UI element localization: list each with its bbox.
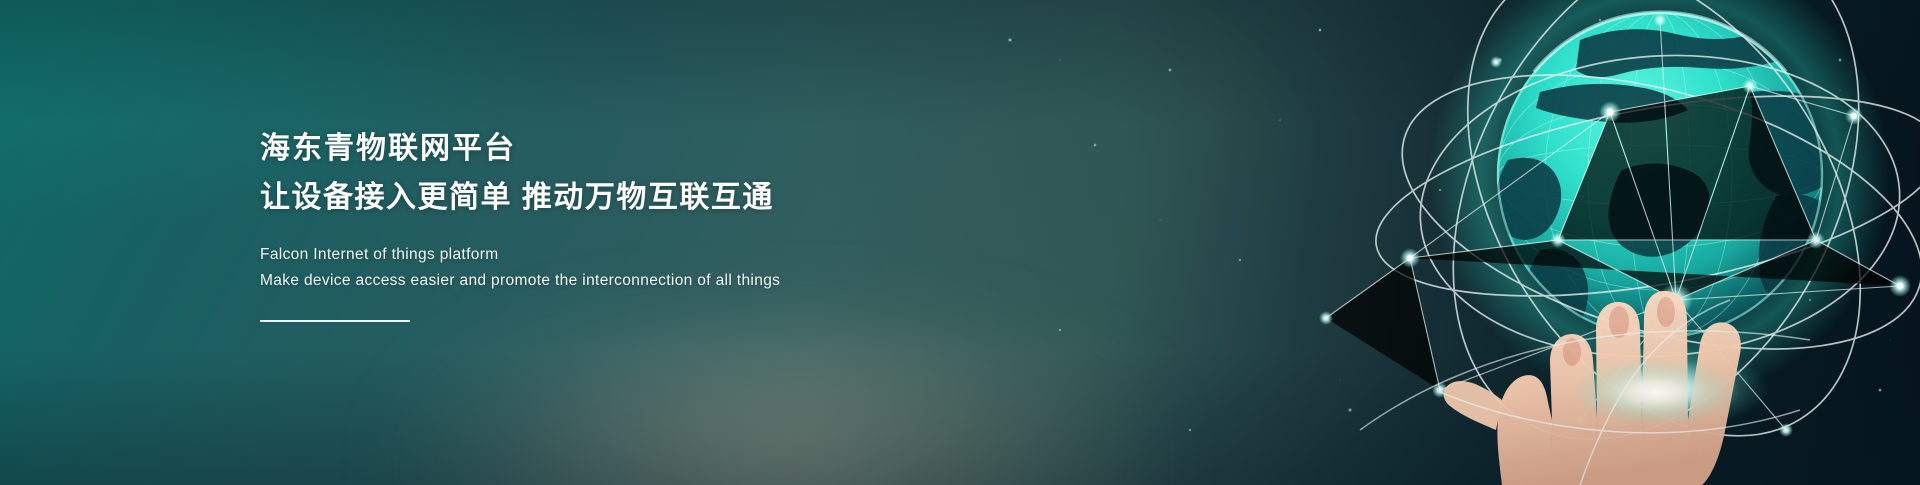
english-tagline-line-2: Make device access easier and promote th… xyxy=(260,268,1080,294)
hero-banner: 海东青物联网平台 让设备接入更简单 推动万物互联互通 Falcon Intern… xyxy=(0,0,1920,485)
hero-copy: 海东青物联网平台 让设备接入更简单 推动万物互联互通 Falcon Intern… xyxy=(260,128,1080,322)
divider-rule xyxy=(260,320,410,322)
english-tagline-line-1: Falcon Internet of things platform xyxy=(260,242,1080,268)
hero-artwork xyxy=(1110,0,1920,485)
page-title: 海东青物联网平台 xyxy=(260,128,1080,170)
page-subtitle: 让设备接入更简单 推动万物互联互通 xyxy=(260,176,1080,220)
english-tagline-block: Falcon Internet of things platform Make … xyxy=(260,242,1080,294)
